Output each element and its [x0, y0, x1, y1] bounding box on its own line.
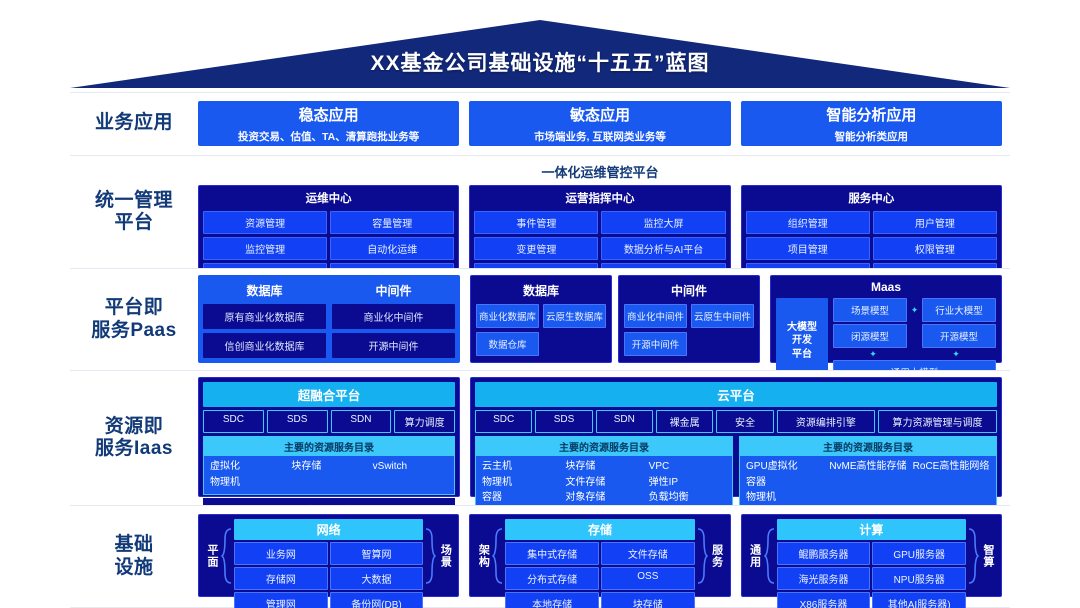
center-cell[interactable]: 资源管理 — [203, 211, 327, 234]
right-brace-icon — [424, 519, 437, 592]
maas-row-scenario: 场景模型 ✦ 行业大模型 — [833, 298, 996, 322]
catalog-items: 虚拟化 块存储 vSwitch 物理机 — [204, 456, 454, 494]
catalog-item[interactable]: 弹性IP — [649, 476, 726, 491]
infra-left-label: 架构 — [475, 519, 491, 592]
app-card-agile[interactable]: 敏态应用 市场端业务, 互联网类业务等 — [469, 101, 730, 146]
row-infrastructure: 基础 设施 平面 网络 业务网 智算网 存储网 大数据 — [70, 505, 1010, 608]
iaas-catalogs: 主要的资源服务目录 云主机 块存储 VPC 物理机 文件存储 弹性IP 容器 对… — [475, 436, 997, 511]
iaas-tab[interactable]: 算力资源管理与调度 — [878, 410, 997, 433]
infra-cell[interactable]: NPU服务器 — [872, 567, 966, 590]
paas-legacy-database-column: 数据库 原有商业化数据库 信创商业化数据库 — [203, 280, 326, 358]
iaas-catalog-general: 主要的资源服务目录 云主机 块存储 VPC 物理机 文件存储 弹性IP 容器 对… — [475, 436, 733, 511]
catalog-item — [913, 491, 990, 506]
row-label-iaas: 资源即 服务Iaas — [70, 371, 198, 505]
maas-dev-platform-line2: 开发 — [792, 334, 812, 348]
row-label-paas: 平台即 服务Paas — [70, 269, 198, 370]
row-label-line2: 平台 — [95, 212, 173, 234]
infra-cell[interactable]: 分布式存储 — [505, 567, 599, 590]
infra-cell[interactable]: 集中式存储 — [505, 542, 599, 565]
catalog-item[interactable]: VPC — [649, 460, 726, 475]
page-title: XX基金公司基础设施“十五五”蓝图 — [70, 20, 1010, 88]
app-card-subtitle: 市场端业务, 互联网类业务等 — [534, 129, 666, 144]
infra-cells: 业务网 智算网 存储网 大数据 管理网 备份网(DB) — [234, 542, 423, 608]
paas-cloudnative-group: 数据库 商业化数据库 云原生数据库 数据仓库 中间件 商业化中间件 云原生中间件… — [470, 275, 760, 363]
maas-upward-connectors: ✦ ✦ — [833, 350, 996, 358]
iaas-tab[interactable]: SDS — [535, 410, 592, 433]
center-cell[interactable]: 数据分析与AI平台 — [601, 237, 725, 260]
iaas-hyperconverged-panel: 超融合平台 SDC SDS SDN 算力调度 主要的资源服务目录 虚拟化 块存储… — [198, 377, 460, 497]
iaas-panel-title: 云平台 — [475, 382, 997, 407]
row-iaas: 资源即 服务Iaas 超融合平台 SDC SDS SDN 算力调度 主要的资源服… — [70, 370, 1010, 505]
row-business-applications: 业务应用 稳态应用 投资交易、估值、TA、清算跑批业务等 敏态应用 市场端业务,… — [70, 92, 1010, 154]
infra-cell[interactable]: 本地存储 — [505, 592, 599, 608]
catalog-item[interactable]: vSwitch — [373, 460, 448, 475]
row-label-line1: 平台即 — [91, 297, 176, 319]
infra-cells: 鲲鹏服务器 GPU服务器 海光服务器 NPU服务器 X86服务器 其他AI服务器… — [777, 542, 966, 608]
catalog-header: 主要的资源服务目录 — [204, 437, 454, 456]
iaas-body: 超融合平台 SDC SDS SDN 算力调度 主要的资源服务目录 虚拟化 块存储… — [198, 371, 1010, 505]
app-card-title: 敏态应用 — [570, 104, 630, 125]
row-label-line2: 设施 — [114, 557, 153, 579]
maas-row-source: 闭源模型 开源模型 — [833, 324, 996, 348]
infra-cell[interactable]: X86服务器 — [777, 592, 871, 608]
row-label-infrastructure: 基础 设施 — [70, 506, 198, 607]
center-cell[interactable]: 组织管理 — [746, 211, 870, 234]
infra-core-storage: 存储 集中式存储 文件存储 分布式存储 OSS 本地存储 块存储 — [504, 519, 695, 592]
center-cell[interactable]: 用户管理 — [873, 211, 997, 234]
center-cell[interactable]: 自动化运维 — [330, 237, 454, 260]
infra-panel-storage: 架构 存储 集中式存储 文件存储 分布式存储 OSS 本地存储 块存储 — [469, 514, 730, 597]
catalog-header: 主要的资源服务目录 — [476, 437, 732, 456]
catalog-item[interactable]: 云主机 — [482, 460, 559, 475]
maas-model-item[interactable]: 开源模型 — [922, 324, 996, 348]
center-cell[interactable]: 权限管理 — [873, 237, 997, 260]
paas-item[interactable]: 开源中间件 — [332, 333, 455, 358]
infra-cell[interactable]: 管理网 — [234, 592, 328, 608]
catalog-item — [829, 491, 906, 506]
iaas-catalog: 主要的资源服务目录 虚拟化 块存储 vSwitch 物理机 — [203, 436, 455, 495]
iaas-tab[interactable]: SDN — [331, 410, 392, 433]
paas-item[interactable]: 信创商业化数据库 — [203, 333, 326, 358]
iaas-tab[interactable]: 资源编排引擎 — [777, 410, 875, 433]
right-brace-icon — [696, 519, 709, 592]
catalog-item[interactable]: NvME高性能存储 — [829, 460, 906, 475]
app-card-subtitle: 智能分析类应用 — [835, 129, 909, 144]
paas-item[interactable]: 商业化中间件 — [624, 304, 687, 328]
infra-core-network: 网络 业务网 智算网 存储网 大数据 管理网 备份网(DB) — [233, 519, 424, 592]
row-label-unified-management: 统一管理 平台 — [70, 156, 198, 268]
infra-panel-network: 平面 网络 业务网 智算网 存储网 大数据 管理网 备份网(DB) — [198, 514, 459, 597]
left-brace-icon — [763, 519, 776, 592]
paas-legacy-panel: 数据库 原有商业化数据库 信创商业化数据库 中间件 商业化中间件 开源中间件 — [198, 275, 460, 363]
infra-cell[interactable]: 文件存储 — [601, 542, 695, 565]
catalog-items: GPU虚拟化 NvME高性能存储 RoCE高性能网络 容器 物理机 — [740, 456, 996, 510]
paas-column-items: 商业化中间件 云原生中间件 开源中间件 — [624, 304, 754, 356]
paas-column-items: 原有商业化数据库 信创商业化数据库 — [203, 304, 326, 358]
catalog-item[interactable]: 负载均衡 — [649, 491, 726, 506]
iaas-tab[interactable]: SDN — [596, 410, 653, 433]
paas-column-items: 商业化中间件 开源中间件 — [332, 304, 455, 358]
infra-title: 存储 — [505, 519, 694, 540]
catalog-item[interactable]: 容器 — [482, 491, 559, 506]
infra-cell[interactable]: 其他AI服务器) — [872, 592, 966, 608]
catalog-item[interactable]: 容器 — [746, 476, 823, 491]
iaas-tab[interactable]: 算力调度 — [394, 410, 455, 433]
iaas-cloud-platform-panel: 云平台 SDC SDS SDN 裸金属 安全 资源编排引擎 算力资源管理与调度 … — [470, 377, 1002, 497]
row-unified-management-platform: 统一管理 平台 一体化运维管控平台 运维中心 资源管理 容量管理 监控管理 自动… — [70, 155, 1010, 268]
right-brace-icon — [967, 519, 980, 592]
paas-column-title: 中间件 — [624, 280, 754, 304]
left-brace-icon — [220, 519, 233, 592]
center-cell[interactable]: 监控大屏 — [601, 211, 725, 234]
app-card-title: 稳态应用 — [299, 104, 359, 125]
app-card-stable[interactable]: 稳态应用 投资交易、估值、TA、清算跑批业务等 — [198, 101, 459, 146]
paas-item[interactable]: 开源中间件 — [624, 332, 687, 356]
infra-cell[interactable]: 业务网 — [234, 542, 328, 565]
infra-panel-compute: 通用 计算 鲲鹏服务器 GPU服务器 海光服务器 NPU服务器 X86服务器 其… — [741, 514, 1002, 597]
infra-cell[interactable]: OSS — [601, 567, 695, 590]
infra-cell[interactable]: 智算网 — [330, 542, 424, 565]
arrow-up-icon: ✦ — [916, 350, 996, 358]
row-label-business-applications: 业务应用 — [70, 93, 198, 154]
center-cell[interactable]: 监控管理 — [203, 237, 327, 260]
diamond-connector-icon: ✦ — [910, 306, 919, 315]
paas-legacy-middleware-column: 中间件 商业化中间件 开源中间件 — [332, 280, 455, 358]
unified-management-body: 一体化运维管控平台 运维中心 资源管理 容量管理 监控管理 自动化运维 监控巡检… — [198, 156, 1010, 268]
infra-right-label: 智算 — [980, 519, 996, 592]
infra-left-label: 平面 — [204, 519, 220, 592]
iaas-tab[interactable]: SDS — [267, 410, 328, 433]
infra-title: 计算 — [777, 519, 966, 540]
maas-title: Maas — [776, 279, 996, 298]
paas-cloudnative-database-panel: 数据库 商业化数据库 云原生数据库 数据仓库 — [470, 275, 612, 363]
paas-cloudnative-middleware-panel: 中间件 商业化中间件 云原生中间件 开源中间件 — [618, 275, 760, 363]
catalog-item[interactable]: 物理机 — [482, 476, 559, 491]
blueprint-diagram: XX基金公司基础设施“十五五”蓝图 业务应用 稳态应用 投资交易、估值、TA、清… — [0, 0, 1080, 608]
catalog-item[interactable]: 块存储 — [291, 460, 366, 475]
app-card-title: 智能分析应用 — [826, 104, 916, 125]
infra-cells: 集中式存储 文件存储 分布式存储 OSS 本地存储 块存储 — [505, 542, 694, 608]
catalog-item[interactable]: 物理机 — [210, 476, 285, 491]
paas-column-items: 商业化数据库 云原生数据库 数据仓库 — [476, 304, 606, 356]
paas-body: 数据库 原有商业化数据库 信创商业化数据库 中间件 商业化中间件 开源中间件 — [198, 269, 1010, 370]
infra-cell[interactable]: GPU服务器 — [872, 542, 966, 565]
catalog-item — [291, 476, 366, 491]
row-label-line2: 服务Iaas — [95, 438, 173, 460]
infrastructure-body: 平面 网络 业务网 智算网 存储网 大数据 管理网 备份网(DB) — [198, 506, 1010, 607]
maas-model-item[interactable]: 场景模型 — [833, 298, 907, 322]
app-card-subtitle: 投资交易、估值、TA、清算跑批业务等 — [238, 129, 419, 144]
row-label-line1: 资源即 — [95, 416, 173, 438]
catalog-item[interactable]: RoCE高性能网络 — [913, 460, 990, 475]
iaas-tab[interactable]: SDC — [203, 410, 264, 433]
catalog-header: 主要的资源服务目录 — [740, 437, 996, 456]
catalog-item — [913, 476, 990, 491]
infra-core-compute: 计算 鲲鹏服务器 GPU服务器 海光服务器 NPU服务器 X86服务器 其他AI… — [776, 519, 967, 592]
catalog-items: 云主机 块存储 VPC 物理机 文件存储 弹性IP 容器 对象存储 负载均衡 — [476, 456, 732, 510]
catalog-item[interactable]: 虚拟化 — [210, 460, 285, 475]
paas-item[interactable]: 数据仓库 — [476, 332, 539, 356]
center-cell[interactable]: 容量管理 — [330, 211, 454, 234]
infra-cell[interactable]: 鲲鹏服务器 — [777, 542, 871, 565]
catalog-item — [373, 476, 448, 491]
row-label-line1: 统一管理 — [95, 190, 173, 212]
infra-title: 网络 — [234, 519, 423, 540]
arrow-up-icon: ✦ — [833, 350, 913, 358]
center-cell[interactable]: 项目管理 — [746, 237, 870, 260]
business-applications-cards: 稳态应用 投资交易、估值、TA、清算跑批业务等 敏态应用 市场端业务, 互联网类… — [198, 93, 1010, 154]
infra-cell[interactable]: 块存储 — [601, 592, 695, 608]
left-brace-icon — [491, 519, 504, 592]
infra-cell[interactable]: 大数据 — [330, 567, 424, 590]
catalog-item — [829, 476, 906, 491]
roof-banner: XX基金公司基础设施“十五五”蓝图 — [70, 20, 1010, 88]
catalog-item[interactable]: 文件存储 — [565, 476, 642, 491]
row-paas: 平台即 服务Paas 数据库 原有商业化数据库 信创商业化数据库 中间件 商业化… — [70, 268, 1010, 370]
paas-column-title: 数据库 — [476, 280, 606, 304]
row-label-line1: 基础 — [114, 534, 153, 556]
app-card-intelligent-analytics[interactable]: 智能分析应用 智能分析类应用 — [741, 101, 1002, 146]
center-title: 运维中心 — [199, 186, 458, 211]
iaas-tab[interactable]: SDC — [475, 410, 532, 433]
paas-item[interactable]: 云原生中间件 — [691, 304, 754, 328]
iaas-catalogs: 主要的资源服务目录 虚拟化 块存储 vSwitch 物理机 — [203, 436, 455, 495]
infra-left-label: 通用 — [747, 519, 763, 592]
center-cell[interactable]: 事件管理 — [474, 211, 598, 234]
iaas-tab[interactable]: 裸金属 — [656, 410, 713, 433]
maas-model-item[interactable]: 行业大模型 — [922, 298, 996, 322]
paas-item[interactable]: 原有商业化数据库 — [203, 304, 326, 329]
iaas-tab[interactable]: 安全 — [716, 410, 773, 433]
paas-item[interactable]: 云原生数据库 — [543, 304, 606, 328]
infra-cell[interactable]: 备份网(DB) — [330, 592, 424, 608]
infra-cell[interactable]: 存储网 — [234, 567, 328, 590]
maas-model-item[interactable]: 闭源模型 — [833, 324, 907, 348]
infra-cell[interactable]: 海光服务器 — [777, 567, 871, 590]
catalog-item[interactable]: 对象存储 — [565, 491, 642, 506]
catalog-item[interactable]: 物理机 — [746, 491, 823, 506]
paas-item[interactable]: 商业化数据库 — [476, 304, 539, 328]
paas-column-title: 中间件 — [332, 280, 455, 304]
maas-panel: Maas 大模型 开发 平台 场景模型 ✦ 行业大模型 — [770, 275, 1002, 363]
iaas-capability-tabs: SDC SDS SDN 算力调度 — [203, 410, 455, 433]
unified-management-header: 一体化运维管控平台 — [198, 160, 1002, 185]
maas-dev-platform-line1: 大模型 — [787, 321, 817, 335]
row-label-line2: 服务Paas — [91, 320, 176, 342]
paas-column-title: 数据库 — [203, 280, 326, 304]
center-cell[interactable]: 变更管理 — [474, 237, 598, 260]
catalog-item[interactable]: 块存储 — [565, 460, 642, 475]
infra-right-label: 场景 — [437, 519, 453, 592]
center-title: 服务中心 — [742, 186, 1001, 211]
paas-item[interactable]: 商业化中间件 — [332, 304, 455, 329]
maas-dev-platform-line3: 平台 — [792, 348, 812, 362]
catalog-item[interactable]: GPU虚拟化 — [746, 460, 823, 475]
infra-right-label: 服务 — [709, 519, 725, 592]
center-title: 运营指挥中心 — [470, 186, 729, 211]
iaas-catalog-accelerated: 主要的资源服务目录 GPU虚拟化 NvME高性能存储 RoCE高性能网络 容器 … — [739, 436, 997, 511]
iaas-capability-tabs: SDC SDS SDN 裸金属 安全 资源编排引擎 算力资源管理与调度 — [475, 410, 997, 433]
iaas-panel-title: 超融合平台 — [203, 382, 455, 407]
